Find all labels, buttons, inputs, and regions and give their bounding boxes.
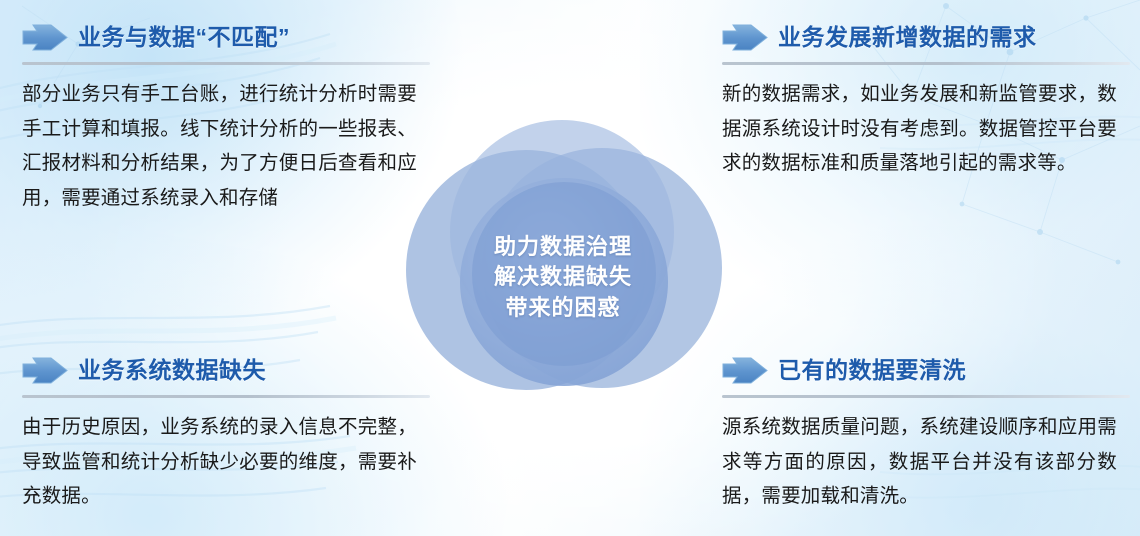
block-bottom-left-title: 业务系统数据缺失: [78, 359, 266, 382]
block-top-left: 业务与数据“不匹配” 部分业务只有手工台账，进行统计分析时需要手工计算和填报。线…: [22, 18, 437, 216]
center-label-line-3: 带来的困惑: [398, 293, 728, 323]
center-label-line-1: 助力数据治理: [398, 232, 728, 262]
block-bottom-left: 业务系统数据缺失 由于历史原因，业务系统的录入信息不完整，导致监管和统计分析缺少…: [22, 351, 437, 514]
center-venn-graphic: 助力数据治理 解决数据缺失 带来的困惑: [398, 112, 728, 412]
block-bottom-left-body: 由于历史原因，业务系统的录入信息不完整，导致监管和统计分析缺少必要的维度，需要补…: [22, 410, 417, 514]
block-bottom-right-title: 已有的数据要清洗: [778, 359, 966, 382]
center-label-line-2: 解决数据缺失: [398, 262, 728, 292]
block-bottom-left-divider: [22, 395, 430, 398]
block-bottom-right-body: 源系统数据质量问题，系统建设顺序和应用需求等方面的原因，数据平台并没有该部分数据…: [722, 410, 1117, 514]
arrow-right-icon: [22, 357, 68, 384]
block-top-right-body: 新的数据需求，如业务发展和新监管要求，数据源系统设计时没有考虑到。数据管控平台要…: [722, 77, 1117, 181]
block-bottom-right-header: 已有的数据要清洗: [722, 351, 1137, 389]
block-top-left-header: 业务与数据“不匹配”: [22, 18, 437, 56]
arrow-right-icon: [22, 24, 68, 51]
block-top-right-divider: [722, 62, 1130, 65]
center-label: 助力数据治理 解决数据缺失 带来的困惑: [398, 232, 728, 323]
arrow-right-icon: [722, 357, 768, 384]
slide-canvas: 助力数据治理 解决数据缺失 带来的困惑 业务与数据“不匹配” 部分业务只有手工台…: [0, 0, 1140, 536]
block-top-left-body: 部分业务只有手工台账，进行统计分析时需要手工计算和填报。线下统计分析的一些报表、…: [22, 77, 417, 216]
arrow-right-icon: [722, 24, 768, 51]
block-top-right-header: 业务发展新增数据的需求: [722, 18, 1137, 56]
block-bottom-right-divider: [722, 395, 1130, 398]
block-top-right-title: 业务发展新增数据的需求: [778, 26, 1037, 49]
block-top-left-divider: [22, 62, 430, 65]
block-bottom-left-header: 业务系统数据缺失: [22, 351, 437, 389]
block-bottom-right: 已有的数据要清洗 源系统数据质量问题，系统建设顺序和应用需求等方面的原因，数据平…: [722, 351, 1137, 514]
block-top-left-title: 业务与数据“不匹配”: [78, 26, 290, 49]
block-top-right: 业务发展新增数据的需求 新的数据需求，如业务发展和新监管要求，数据源系统设计时没…: [722, 18, 1137, 181]
